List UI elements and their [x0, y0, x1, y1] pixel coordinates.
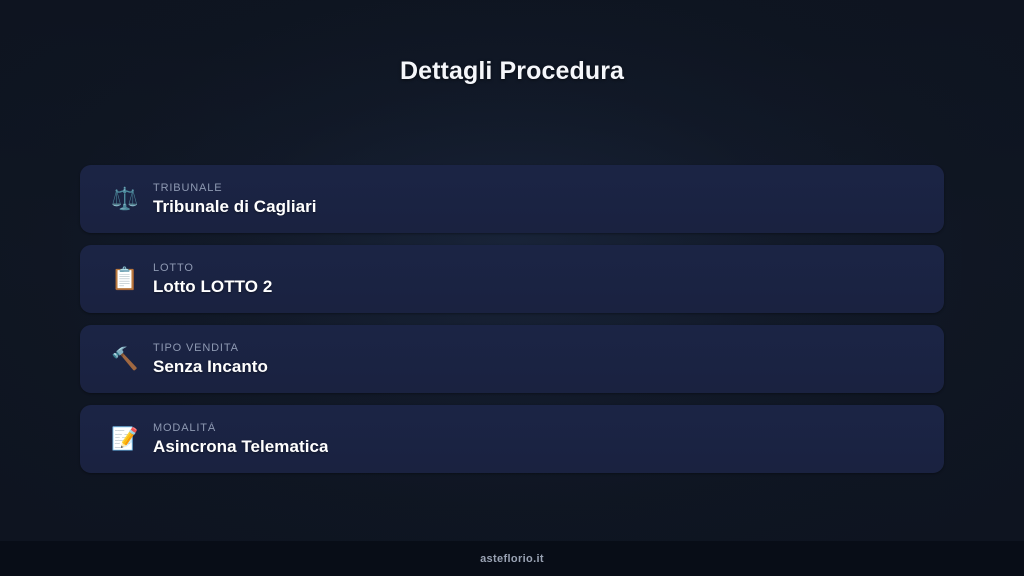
detail-card-text: TIPO VENDITA Senza Incanto	[153, 342, 268, 377]
detail-card-text: TRIBUNALE Tribunale di Cagliari	[153, 182, 317, 217]
page-title: Dettagli Procedura	[0, 0, 1024, 86]
memo-document-icon: 📝	[110, 428, 140, 450]
procedure-details-screen: Dettagli Procedura ⚖️ TRIBUNALE Tribunal…	[0, 0, 1024, 576]
detail-card-value: Asincrona Telematica	[153, 437, 328, 457]
detail-card-label: LOTTO	[153, 262, 272, 274]
detail-card-tipo-vendita: 🔨 TIPO VENDITA Senza Incanto	[80, 325, 944, 393]
detail-card-value: Tribunale di Cagliari	[153, 197, 317, 217]
detail-card-value: Lotto LOTTO 2	[153, 277, 272, 297]
detail-card-text: LOTTO Lotto LOTTO 2	[153, 262, 272, 297]
balance-scale-icon: ⚖️	[110, 188, 140, 210]
detail-card-value: Senza Incanto	[153, 357, 268, 377]
detail-card-text: MODALITÀ Asincrona Telematica	[153, 422, 328, 457]
detail-card-label: TRIBUNALE	[153, 182, 317, 194]
detail-cards-list: ⚖️ TRIBUNALE Tribunale di Cagliari 📋 LOT…	[0, 165, 1024, 473]
clipboard-icon: 📋	[110, 268, 140, 290]
footer-site-label: asteflorio.it	[480, 553, 544, 565]
detail-card-modalita: 📝 MODALITÀ Asincrona Telematica	[80, 405, 944, 473]
detail-card-lotto: 📋 LOTTO Lotto LOTTO 2	[80, 245, 944, 313]
detail-card-tribunale: ⚖️ TRIBUNALE Tribunale di Cagliari	[80, 165, 944, 233]
detail-card-label: MODALITÀ	[153, 422, 328, 434]
hammer-icon: 🔨	[110, 348, 140, 370]
detail-card-label: TIPO VENDITA	[153, 342, 268, 354]
footer-bar: asteflorio.it	[0, 541, 1024, 576]
